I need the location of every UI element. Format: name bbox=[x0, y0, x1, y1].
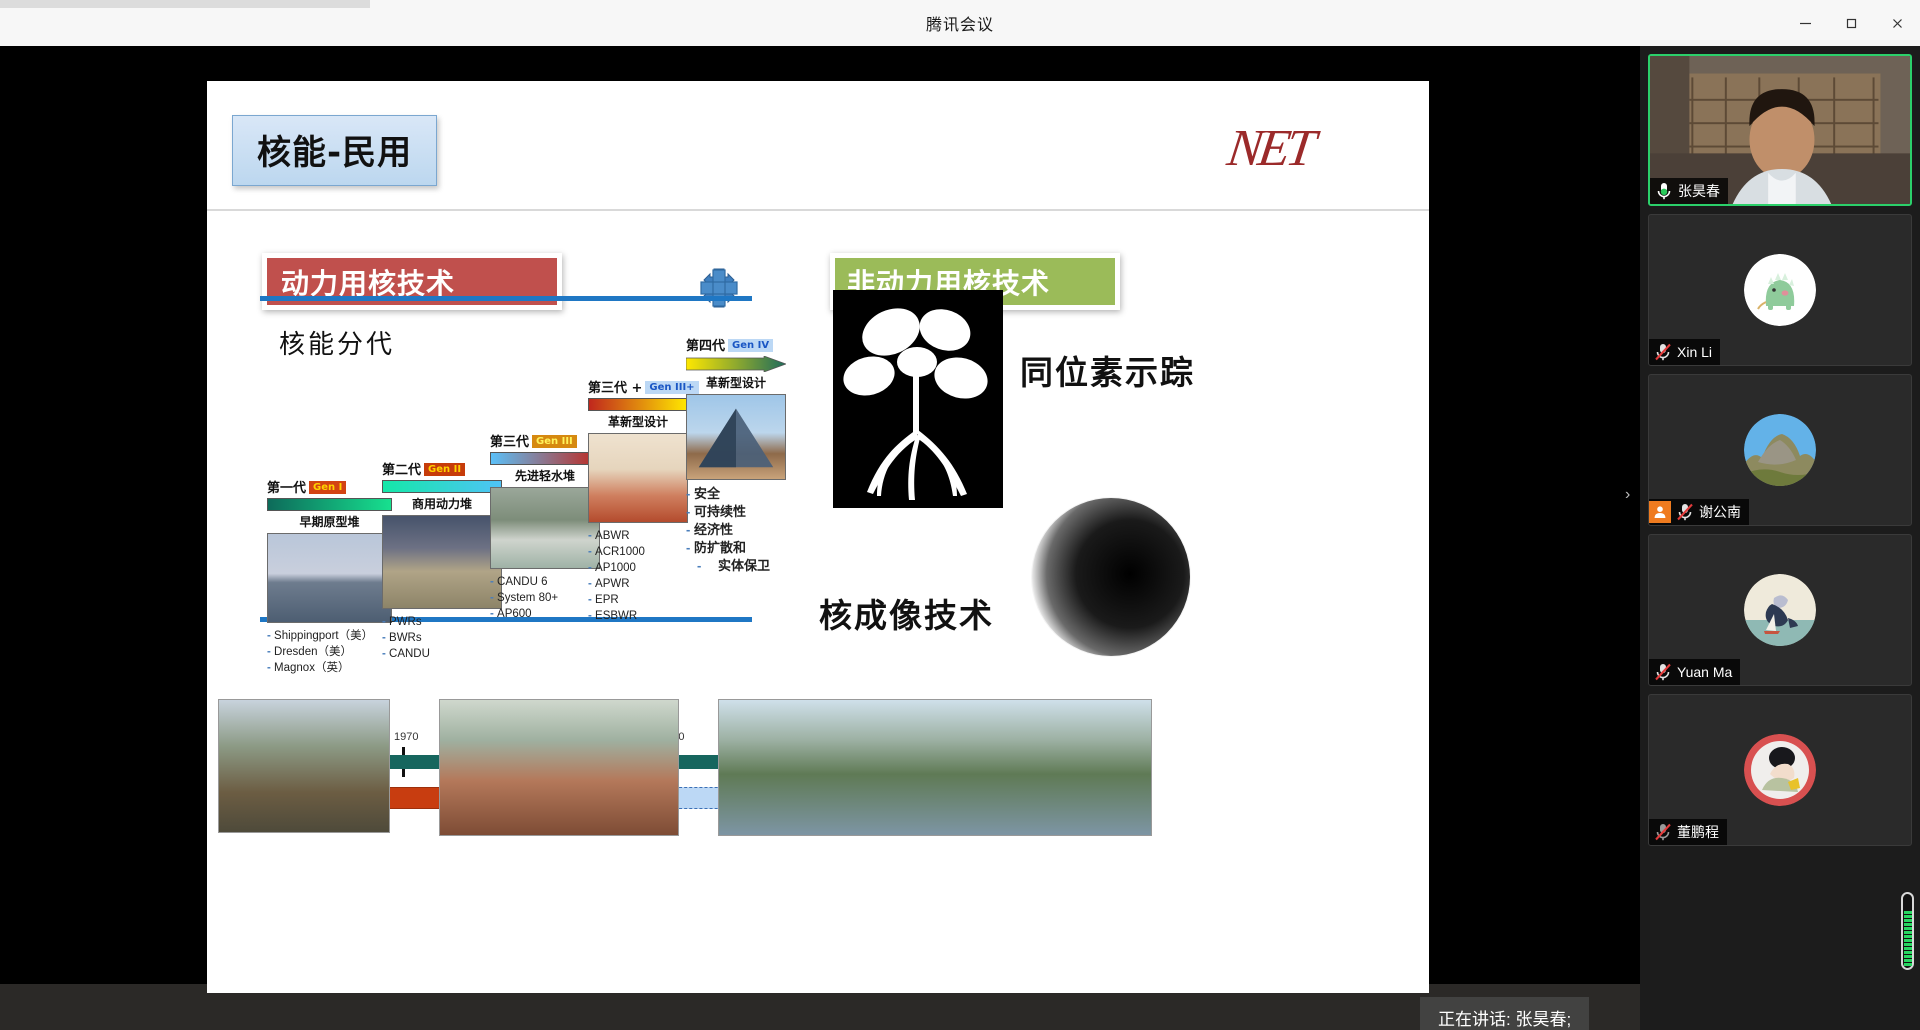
generation-column-4: 第三代 +Gen III+ 革新型设计 ABWR ACR1000 AP1000 … bbox=[588, 377, 688, 624]
generation-item-list: CANDU 6 System 80+ AP600 bbox=[490, 574, 600, 622]
generation-heading: 第四代Gen IV bbox=[686, 335, 786, 354]
participant-tile-2[interactable]: 谢公南 bbox=[1648, 374, 1912, 526]
participant-tile-4[interactable]: 董鹏程 bbox=[1648, 694, 1912, 846]
mic-muted-icon bbox=[1675, 502, 1695, 522]
generation-photo bbox=[267, 533, 392, 623]
mic-muted-icon bbox=[1653, 822, 1673, 842]
participant-namebar: Yuan Ma bbox=[1649, 659, 1740, 685]
list-item: AP600 bbox=[490, 606, 600, 622]
generation-item-list: 安全 可持续性 经济性 防扩散和 实体保卫 bbox=[686, 485, 786, 575]
participant-tile-1[interactable]: Xin Li bbox=[1648, 214, 1912, 366]
list-item: ACR1000 bbox=[588, 544, 688, 560]
avatar bbox=[1744, 254, 1816, 326]
generation-gradient-bar bbox=[267, 498, 392, 511]
list-item: BWRs bbox=[382, 630, 502, 646]
generation-subtitle: 早期原型堆 bbox=[267, 513, 392, 530]
nuclear-imaging-label: 核成像技术 bbox=[819, 589, 994, 637]
speaking-toast: 正在讲话: 张昊春; bbox=[1420, 997, 1589, 1030]
shared-screen-stage: 核能-民用 NET 动力用核技术 非动力用核技术 bbox=[0, 46, 1640, 1030]
generation-item-list: PWRs BWRs CANDU bbox=[382, 614, 502, 662]
generation-column-3: 第三代Gen III 先进轻水堆 CANDU 6 System 80+ AP60… bbox=[490, 431, 600, 622]
expand-panel-chevron-icon[interactable]: › bbox=[1625, 486, 1630, 504]
participant-tile-3[interactable]: Yuan Ma bbox=[1648, 534, 1912, 686]
participant-name: Xin Li bbox=[1677, 344, 1712, 360]
generation-gradient-bar bbox=[490, 452, 600, 465]
list-item: 安全 bbox=[686, 485, 786, 503]
mic-muted-icon bbox=[1653, 342, 1673, 362]
window-title: 腾讯会议 bbox=[926, 11, 994, 35]
shared-screen-canvas: 核能-民用 NET 动力用核技术 非动力用核技术 bbox=[0, 46, 1640, 984]
close-button[interactable] bbox=[1874, 0, 1920, 46]
generation-tag: Gen III bbox=[532, 435, 577, 448]
avatar bbox=[1744, 734, 1816, 806]
generation-column-1: 第一代Gen I 早期原型堆 Shippingport（美） Dresden（美… bbox=[267, 477, 392, 676]
participant-namebar: 董鹏程 bbox=[1649, 819, 1727, 845]
generation-photo bbox=[686, 394, 786, 480]
minimize-button[interactable] bbox=[1782, 0, 1828, 46]
list-item: CANDU bbox=[382, 646, 502, 662]
list-item: APWR bbox=[588, 576, 688, 592]
net-logo: NET bbox=[1223, 119, 1315, 178]
participant-namebar: 张昊春 bbox=[1650, 178, 1728, 204]
generation-tag: Gen I bbox=[309, 481, 346, 494]
list-item: EPR bbox=[588, 592, 688, 608]
mic-on-icon bbox=[1654, 181, 1674, 201]
presentation-slide: 核能-民用 NET 动力用核技术 非动力用核技术 bbox=[207, 81, 1429, 993]
generation-label-cn: 第二代 bbox=[382, 463, 421, 478]
generation-tag: Gen IV bbox=[728, 339, 773, 352]
list-item: CANDU 6 bbox=[490, 574, 600, 590]
audio-level-meter[interactable] bbox=[1901, 892, 1914, 970]
list-item: 可持续性 bbox=[686, 503, 786, 521]
title-bar-ghost-strip bbox=[0, 0, 370, 8]
generation-item-list: Shippingport（美） Dresden（美） Magnox（英） bbox=[267, 628, 392, 676]
tencent-meeting-window: 腾讯会议 核能-民用 NET 动力用核技术 bbox=[0, 0, 1920, 1030]
generation-column-5: 第四代Gen IV 革新型设计 bbox=[686, 335, 786, 575]
generation-label-cn: 第四代 bbox=[686, 339, 725, 354]
isotope-tracing-label: 同位素示踪 bbox=[1020, 346, 1195, 394]
bottom-photo-coastal-plant bbox=[718, 699, 1152, 836]
generation-heading: 第三代Gen III bbox=[490, 431, 600, 450]
generation-heading: 第一代Gen I bbox=[267, 477, 392, 496]
mic-muted-icon bbox=[1653, 662, 1673, 682]
participant-name: 张昊春 bbox=[1678, 181, 1720, 201]
generation-subtitle: 先进轻水堆 bbox=[490, 467, 600, 484]
participant-rail: 张昊春 bbox=[1640, 46, 1920, 1030]
maximize-button[interactable] bbox=[1828, 0, 1874, 46]
list-item: ESBWR bbox=[588, 608, 688, 624]
plus-icon bbox=[696, 265, 742, 311]
nuclear-imaging-sample-image bbox=[1031, 497, 1191, 657]
generation-subtitle: 革新型设计 bbox=[588, 413, 688, 430]
generation-subtitle: 革新型设计 bbox=[686, 374, 786, 391]
bottom-photo-reactor-cutaway bbox=[439, 699, 679, 836]
list-item: Shippingport（美） bbox=[267, 628, 392, 644]
list-item: AP1000 bbox=[588, 560, 688, 576]
bottom-photo-switchyard bbox=[218, 699, 390, 833]
participant-name: 谢公南 bbox=[1699, 502, 1741, 522]
generation-tag: Gen II bbox=[424, 463, 465, 476]
list-item: System 80+ bbox=[490, 590, 600, 606]
timeline-year: 1970 bbox=[394, 731, 418, 743]
participant-namebar: Xin Li bbox=[1649, 339, 1720, 365]
participant-name: 董鹏程 bbox=[1677, 822, 1719, 842]
list-item: Dresden（美） bbox=[267, 644, 392, 660]
list-item-continuation: 实体保卫 bbox=[686, 557, 786, 575]
generation-subtitle: 商用动力堆 bbox=[382, 495, 502, 512]
power-nuclear-tech-band: 动力用核技术 bbox=[262, 253, 562, 310]
plant-root-xray-image bbox=[833, 290, 1003, 508]
generation-item-list: ABWR ACR1000 AP1000 APWR EPR ESBWR bbox=[588, 528, 688, 624]
generation-label-cn: 第三代 + bbox=[588, 381, 642, 396]
participant-tile-0[interactable]: 张昊春 bbox=[1648, 54, 1912, 206]
participant-namebar: 谢公南 bbox=[1649, 499, 1749, 525]
list-item: Magnox（英） bbox=[267, 660, 392, 676]
participant-name: Yuan Ma bbox=[1677, 664, 1732, 680]
generation-gradient-arrow bbox=[686, 356, 786, 372]
slide-header: 核能-民用 NET bbox=[207, 81, 1429, 211]
slide-title: 核能-民用 bbox=[232, 115, 437, 186]
window-title-bar: 腾讯会议 bbox=[0, 0, 1920, 46]
host-badge-icon bbox=[1649, 501, 1671, 523]
generation-photo bbox=[382, 515, 502, 609]
divider-rule-top bbox=[260, 296, 752, 301]
list-item: PWRs bbox=[382, 614, 502, 630]
list-item: 经济性 bbox=[686, 521, 786, 539]
generation-heading: 第三代 +Gen III+ bbox=[588, 377, 688, 396]
generation-column-2: 第二代Gen II 商用动力堆 PWRs BWRs CANDU bbox=[382, 459, 502, 662]
generation-label-cn: 第一代 bbox=[267, 481, 306, 496]
avatar bbox=[1744, 574, 1816, 646]
generation-label-cn: 第三代 bbox=[490, 435, 529, 450]
window-controls bbox=[1782, 0, 1920, 46]
list-item: ABWR bbox=[588, 528, 688, 544]
generation-gradient-bar bbox=[382, 480, 502, 493]
generation-gradient-bar bbox=[588, 398, 688, 411]
generation-photo bbox=[588, 433, 688, 523]
section-caption: 核能分代 bbox=[279, 324, 395, 361]
generation-heading: 第二代Gen II bbox=[382, 459, 502, 478]
list-item: 防扩散和 bbox=[686, 539, 786, 557]
generation-photo bbox=[490, 487, 600, 569]
avatar bbox=[1744, 414, 1816, 486]
